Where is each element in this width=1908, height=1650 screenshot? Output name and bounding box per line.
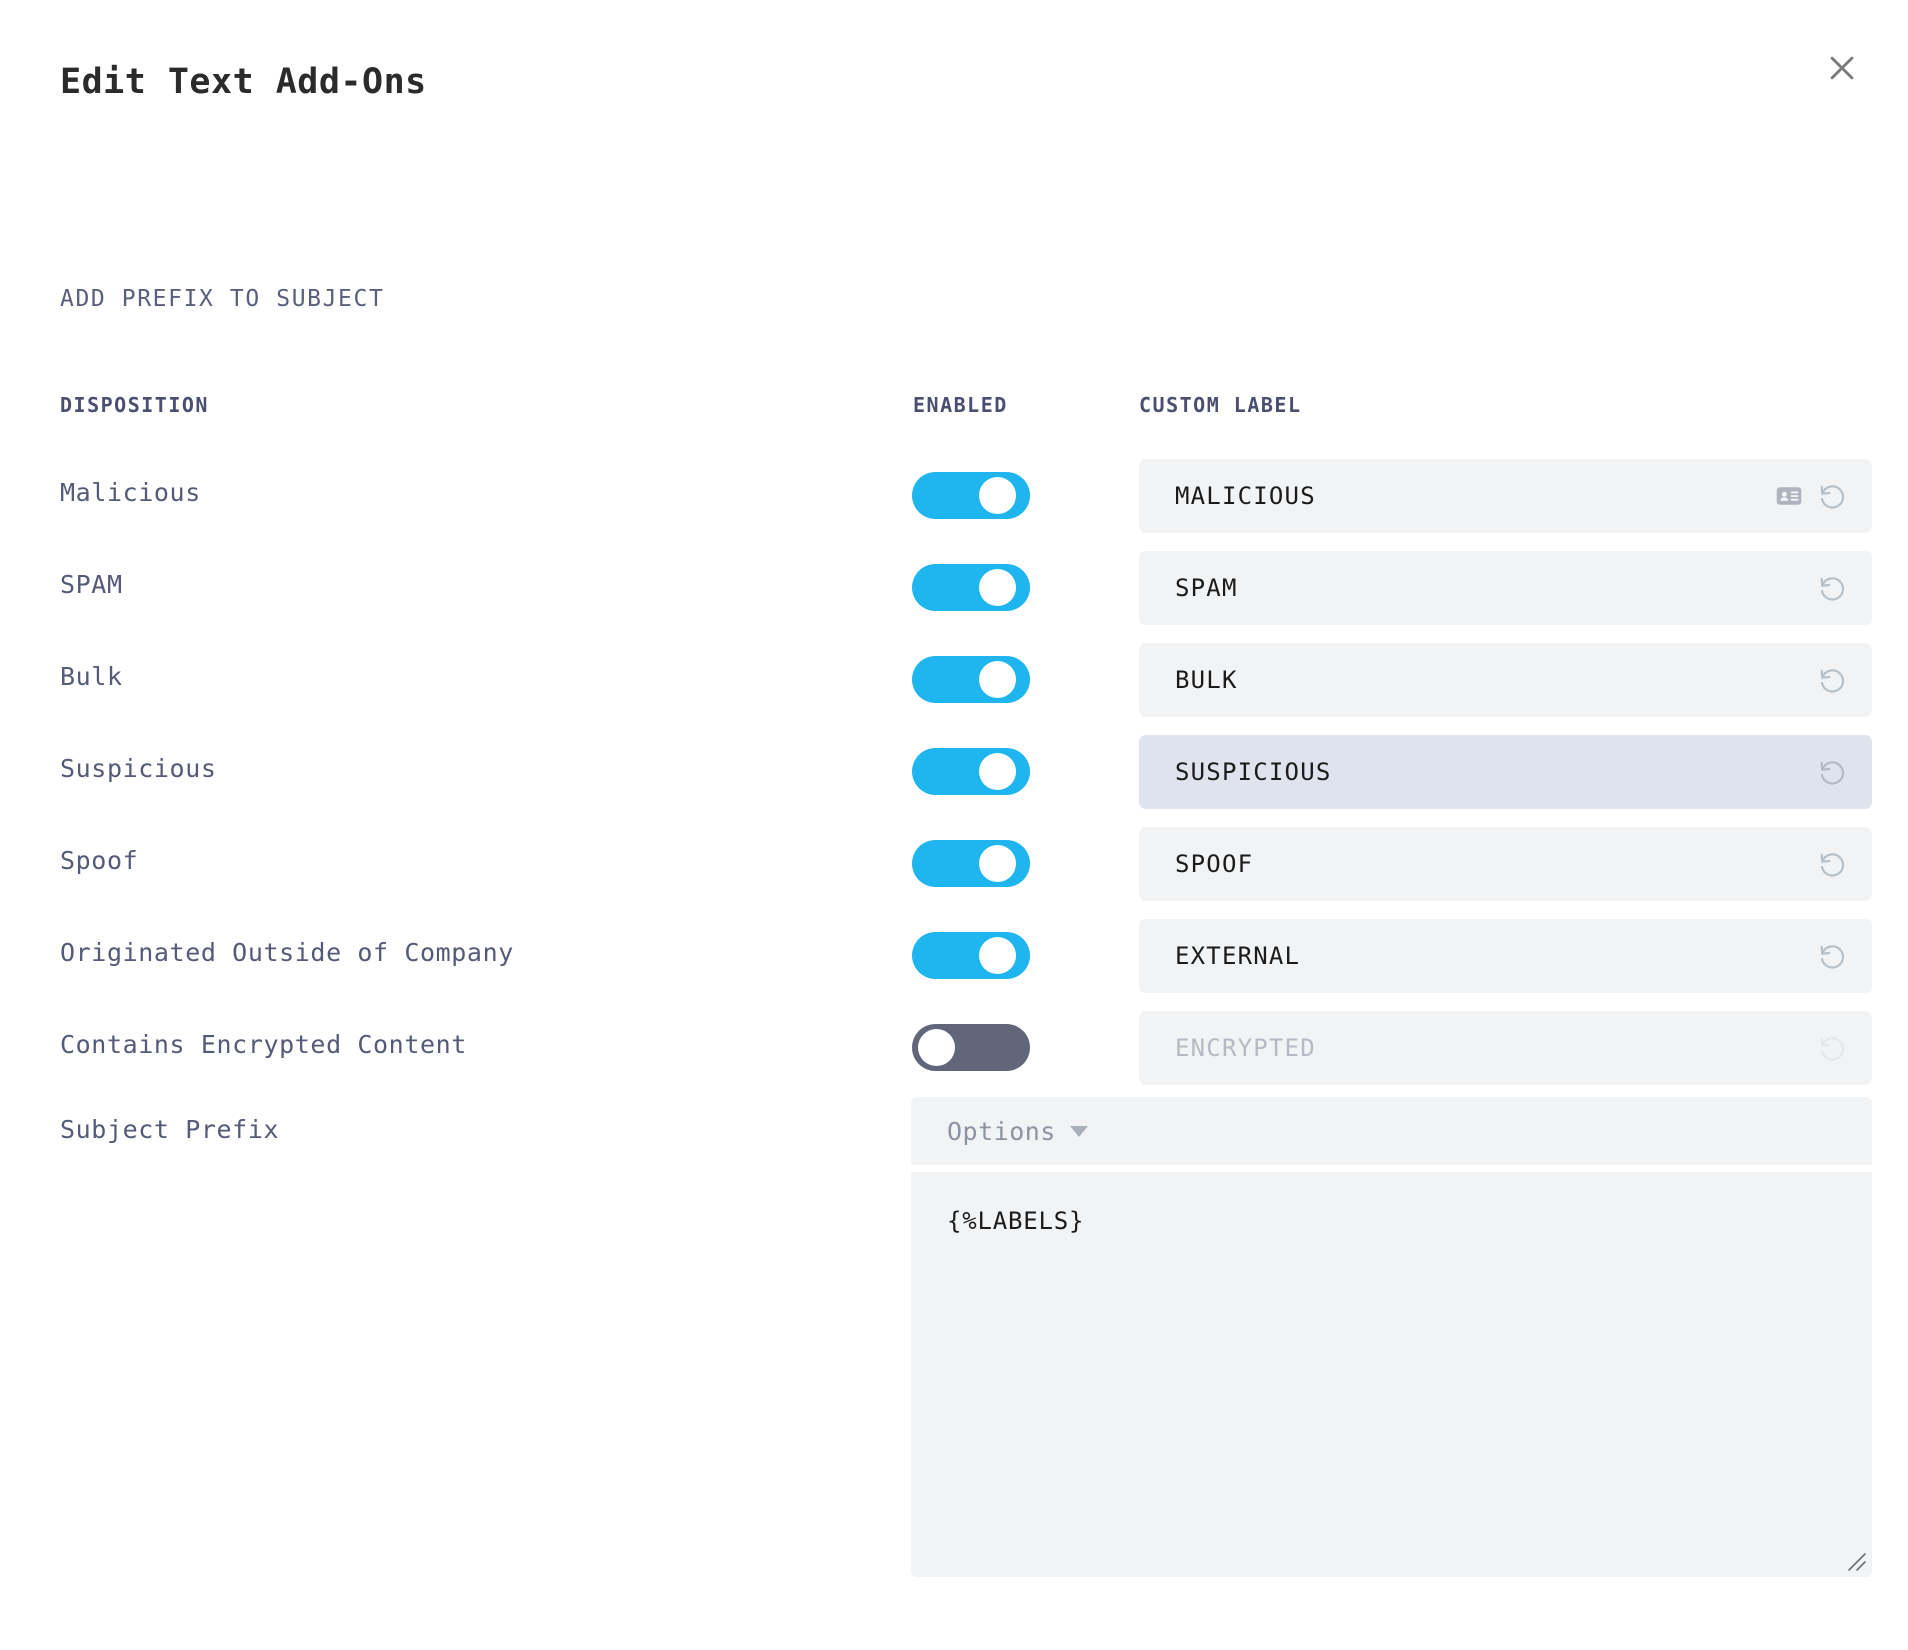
reset-icon[interactable] [1817, 941, 1848, 972]
row-label-contains-encrypted-content: Contains Encrypted Content [60, 1030, 467, 1059]
table-row: Malicious MALICIOUS [0, 455, 1908, 547]
field-icon-group [1817, 1011, 1848, 1085]
disposition-rows: Malicious MALICIOUS SPAM SPAM [0, 455, 1908, 1099]
column-header-disposition: DISPOSITION [60, 393, 209, 417]
field-icon-group [1817, 919, 1848, 993]
reset-icon [1817, 1033, 1848, 1064]
custom-label-input-external[interactable]: EXTERNAL [1139, 919, 1872, 993]
custom-label-value: ENCRYPTED [1175, 1034, 1316, 1062]
column-header-custom-label: CUSTOM LABEL [1139, 393, 1302, 417]
row-label-malicious: Malicious [60, 478, 201, 507]
custom-label-value: EXTERNAL [1175, 942, 1300, 970]
reset-icon[interactable] [1817, 757, 1848, 788]
resize-handle-icon[interactable] [1846, 1551, 1868, 1573]
toggle-contains-encrypted-content[interactable] [912, 1024, 1030, 1071]
field-icon-group [1817, 735, 1848, 809]
toggle-spoof[interactable] [912, 840, 1030, 887]
close-button[interactable] [1814, 40, 1870, 96]
column-headers: DISPOSITION ENABLED CUSTOM LABEL [0, 393, 1908, 423]
toggle-spam[interactable] [912, 564, 1030, 611]
toggle-knob [979, 477, 1016, 514]
row-label-originated-outside-of-company: Originated Outside of Company [60, 938, 514, 967]
custom-label-input-spam[interactable]: SPAM [1139, 551, 1872, 625]
custom-label-input-malicious[interactable]: MALICIOUS [1139, 459, 1872, 533]
subject-prefix-textarea[interactable]: {%LABELS} [911, 1172, 1872, 1577]
table-row: SPAM SPAM [0, 547, 1908, 639]
table-row: Suspicious SUSPICIOUS [0, 731, 1908, 823]
custom-label-value: SPAM [1175, 574, 1238, 602]
table-row: Contains Encrypted Content ENCRYPTED [0, 1007, 1908, 1099]
reset-icon[interactable] [1817, 665, 1848, 696]
field-icon-group [1775, 459, 1848, 533]
toggle-knob [979, 845, 1016, 882]
close-icon [1825, 51, 1859, 85]
column-header-enabled: ENABLED [913, 393, 1008, 417]
reset-icon[interactable] [1817, 849, 1848, 880]
toggle-knob [979, 753, 1016, 790]
toggle-bulk[interactable] [912, 656, 1030, 703]
reset-icon[interactable] [1817, 481, 1848, 512]
chevron-down-icon [1070, 1126, 1088, 1137]
custom-label-input-spoof[interactable]: SPOOF [1139, 827, 1872, 901]
toggle-suspicious[interactable] [912, 748, 1030, 795]
table-row: Bulk BULK [0, 639, 1908, 731]
subject-prefix-value: {%LABELS} [947, 1207, 1084, 1235]
row-label-bulk: Bulk [60, 662, 123, 691]
table-row: Spoof SPOOF [0, 823, 1908, 915]
toggle-knob [979, 661, 1016, 698]
custom-label-value: MALICIOUS [1175, 482, 1316, 510]
dialog-header: Edit Text Add-Ons [0, 0, 1908, 150]
page-title: Edit Text Add-Ons [60, 62, 427, 102]
table-row: Originated Outside of Company EXTERNAL [0, 915, 1908, 1007]
custom-label-value: SUSPICIOUS [1175, 758, 1332, 786]
section-label: ADD PREFIX TO SUBJECT [60, 286, 384, 312]
edit-text-addons-dialog: Edit Text Add-Ons ADD PREFIX TO SUBJECT … [0, 0, 1908, 1650]
toggle-knob [979, 569, 1016, 606]
options-dropdown[interactable]: Options [911, 1097, 1872, 1165]
custom-label-input-encrypted: ENCRYPTED [1139, 1011, 1872, 1085]
toggle-malicious[interactable] [912, 472, 1030, 519]
field-icon-group [1817, 551, 1848, 625]
field-icon-group [1817, 827, 1848, 901]
options-label: Options [947, 1117, 1056, 1146]
custom-label-input-suspicious[interactable]: SUSPICIOUS [1139, 735, 1872, 809]
contact-card-icon[interactable] [1775, 482, 1803, 510]
custom-label-value: SPOOF [1175, 850, 1253, 878]
toggle-knob [918, 1029, 955, 1066]
toggle-knob [979, 937, 1016, 974]
toggle-originated-outside-of-company[interactable] [912, 932, 1030, 979]
row-label-subject-prefix: Subject Prefix [60, 1115, 279, 1144]
reset-icon[interactable] [1817, 573, 1848, 604]
field-icon-group [1817, 643, 1848, 717]
row-label-spoof: Spoof [60, 846, 138, 875]
row-label-suspicious: Suspicious [60, 754, 217, 783]
custom-label-value: BULK [1175, 666, 1238, 694]
custom-label-input-bulk[interactable]: BULK [1139, 643, 1872, 717]
row-label-spam: SPAM [60, 570, 123, 599]
